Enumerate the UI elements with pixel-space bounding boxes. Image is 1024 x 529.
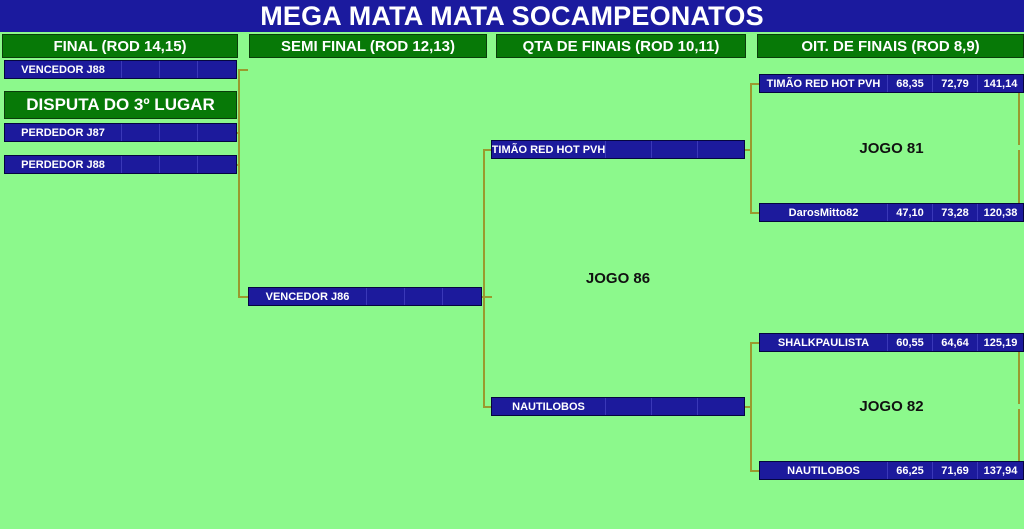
score-cell-2: 71,69 bbox=[933, 462, 978, 479]
score-cell-1 bbox=[122, 156, 160, 173]
score-cell-1 bbox=[367, 288, 405, 305]
match-row-jogo82-bottom[interactable]: NAUTILOBOS 66,25 71,69 137,94 bbox=[759, 461, 1024, 480]
score-cell-3 bbox=[198, 156, 236, 173]
round-header-quarter-finals: QTA DE FINAIS (ROD 10,11) bbox=[496, 34, 746, 58]
match-row-perdedor-j88[interactable]: PERDEDOR J88 bbox=[4, 155, 237, 174]
score-cell-1 bbox=[606, 398, 652, 415]
score-cell-2: 64,64 bbox=[933, 334, 978, 351]
team-name: PERDEDOR J88 bbox=[5, 156, 122, 173]
match-row-jogo81-bottom[interactable]: DarosMitto82 47,10 73,28 120,38 bbox=[759, 203, 1024, 222]
connector-jogo82-top bbox=[750, 342, 759, 344]
score-cell-2 bbox=[405, 288, 443, 305]
team-name: SHALKPAULISTA bbox=[760, 334, 888, 351]
score-cell-2 bbox=[160, 124, 198, 141]
team-name: VENCEDOR J88 bbox=[5, 61, 122, 78]
score-cell-2 bbox=[160, 156, 198, 173]
score-cell-3 bbox=[443, 288, 481, 305]
team-name: TIMÃO RED HOT PVH bbox=[492, 141, 606, 158]
connector-jogo81-bottom bbox=[750, 212, 759, 214]
score-cell-3 bbox=[698, 141, 744, 158]
score-cell-3: 137,94 bbox=[978, 462, 1023, 479]
match-row-vencedor-j86[interactable]: VENCEDOR J86 bbox=[248, 287, 482, 306]
match-label-jogo-86: JOGO 86 bbox=[491, 268, 745, 288]
match-row-vencedor-j88[interactable]: VENCEDOR J88 bbox=[4, 60, 237, 79]
score-cell-1: 47,10 bbox=[888, 204, 933, 221]
match-row-jogo81-top[interactable]: TIMÃO RED HOT PVH 68,35 72,79 141,14 bbox=[759, 74, 1024, 93]
team-name: PERDEDOR J87 bbox=[5, 124, 122, 141]
connector-jogo81-out bbox=[745, 149, 751, 151]
score-cell-3: 120,38 bbox=[978, 204, 1023, 221]
score-cell-1: 68,35 bbox=[888, 75, 933, 92]
connector-jogo82-bottom bbox=[750, 470, 759, 472]
match-label-jogo-82: JOGO 82 bbox=[759, 396, 1024, 416]
match-row-perdedor-j87[interactable]: PERDEDOR J87 bbox=[4, 123, 237, 142]
connector-third-place-vertical bbox=[238, 132, 240, 165]
score-cell-3: 125,19 bbox=[978, 334, 1023, 351]
score-cell-2: 72,79 bbox=[933, 75, 978, 92]
team-name: DarosMitto82 bbox=[760, 204, 888, 221]
connector-jogo81-top bbox=[750, 83, 759, 85]
page-title: MEGA MATA MATA SOCAMPEONATOS bbox=[0, 0, 1024, 32]
round-header-semi-final: SEMI FINAL (ROD 12,13) bbox=[249, 34, 487, 58]
team-name: NAUTILOBOS bbox=[760, 462, 888, 479]
connector-final-vertical bbox=[238, 69, 240, 297]
score-cell-3: 141,14 bbox=[978, 75, 1023, 92]
connector-jogo81-vertical bbox=[750, 83, 752, 213]
score-cell-2 bbox=[160, 61, 198, 78]
score-cell-2 bbox=[652, 141, 698, 158]
team-name: VENCEDOR J86 bbox=[249, 288, 367, 305]
connector-jogo82-out bbox=[745, 406, 751, 408]
score-cell-3 bbox=[198, 124, 236, 141]
third-place-header: DISPUTA DO 3º LUGAR bbox=[4, 91, 237, 119]
match-row-jogo86-top[interactable]: TIMÃO RED HOT PVH bbox=[491, 140, 745, 159]
score-cell-1: 60,55 bbox=[888, 334, 933, 351]
round-header-final: FINAL (ROD 14,15) bbox=[2, 34, 238, 58]
score-cell-2 bbox=[652, 398, 698, 415]
team-name: NAUTILOBOS bbox=[492, 398, 606, 415]
connector-jogo86-out bbox=[482, 296, 492, 298]
score-cell-3 bbox=[698, 398, 744, 415]
match-label-jogo-81: JOGO 81 bbox=[759, 138, 1024, 158]
score-cell-1 bbox=[122, 124, 160, 141]
score-cell-1 bbox=[606, 141, 652, 158]
round-header-round-of-16: OIT. DE FINAIS (ROD 8,9) bbox=[757, 34, 1024, 58]
score-cell-2: 73,28 bbox=[933, 204, 978, 221]
match-row-jogo82-top[interactable]: SHALKPAULISTA 60,55 64,64 125,19 bbox=[759, 333, 1024, 352]
score-cell-3 bbox=[198, 61, 236, 78]
score-cell-1 bbox=[122, 61, 160, 78]
connector-jogo86-vertical bbox=[483, 149, 485, 407]
team-name: TIMÃO RED HOT PVH bbox=[760, 75, 888, 92]
match-row-jogo86-bottom[interactable]: NAUTILOBOS bbox=[491, 397, 745, 416]
score-cell-1: 66,25 bbox=[888, 462, 933, 479]
